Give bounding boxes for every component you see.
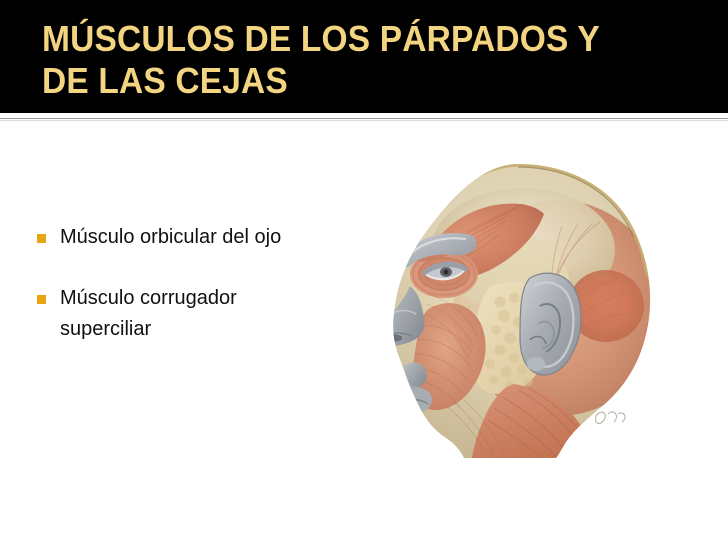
list-item: Músculo corrugador superciliar [30,283,330,345]
head-figure [368,158,664,458]
bullet-list: Músculo orbicular del ojo Músculo corrug… [30,222,330,375]
title-divider [0,118,728,119]
list-item: Músculo orbicular del ojo [30,222,330,253]
lateral-head-muscles-image [368,158,664,458]
square-bullet-icon [37,295,46,304]
title-band: MÚSCULOS DE LOS PÁRPADOS Y DE LAS CEJAS [0,0,728,113]
page-title: MÚSCULOS DE LOS PÁRPADOS Y DE LAS CEJAS [42,18,637,102]
list-item-label: Músculo corrugador superciliar [60,283,330,345]
list-item-label: Músculo orbicular del ojo [60,222,330,253]
anatomy-illustration [368,158,664,458]
title-divider-highlight [0,120,728,121]
slide: MÚSCULOS DE LOS PÁRPADOS Y DE LAS CEJAS … [0,0,728,546]
illustration-signature [596,412,625,424]
square-bullet-icon [37,234,46,243]
